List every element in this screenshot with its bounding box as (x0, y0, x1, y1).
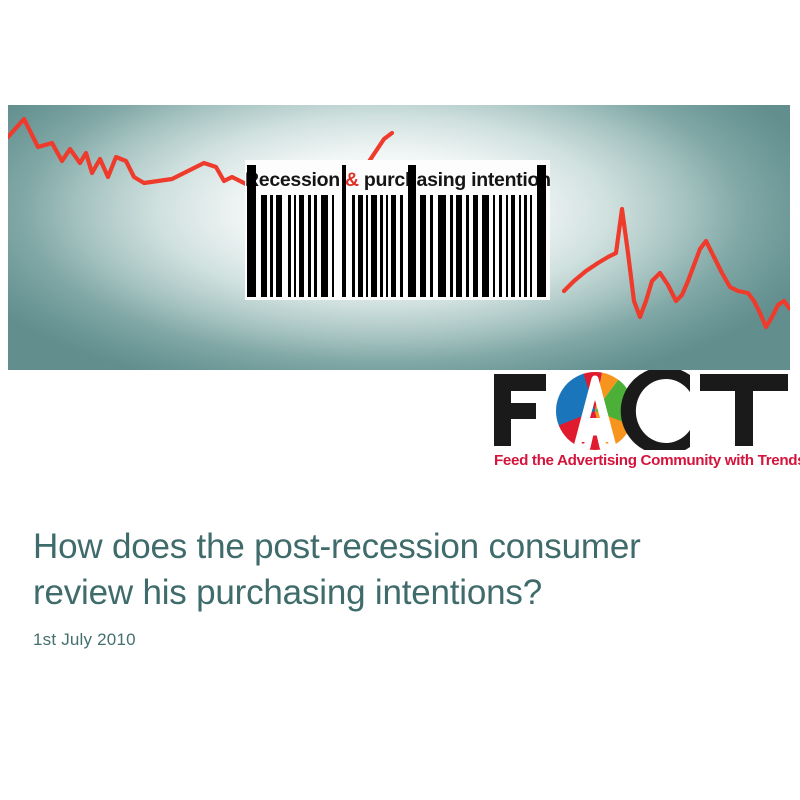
logo-letter-t (700, 374, 788, 446)
barcode-graphic: Recession & purchasing intention (245, 160, 550, 300)
logo-tagline: Feed the Advertising Community with Tren… (494, 452, 792, 469)
logo-letter-f (494, 374, 546, 446)
barcode-title-prefix: Recession (245, 169, 345, 191)
logo-letter-c (621, 370, 690, 450)
barcode-title-text: Recession & purchasing intention (245, 166, 550, 194)
page-title: How does the post-recession consumer rev… (33, 524, 763, 616)
page-title-line-2: review his purchasing intentions? (33, 573, 542, 612)
trend-line-right (564, 209, 790, 327)
barcode-title-suffix: purchasing intention (359, 169, 551, 191)
title-block: How does the post-recession consumer rev… (33, 524, 763, 616)
barcode-title-ampersand: & (345, 169, 359, 191)
document-date: 1st July 2010 (33, 630, 136, 650)
fact-wordmark (492, 370, 792, 450)
page-title-line-1: How does the post-recession consumer (33, 527, 641, 566)
barcode-bars (245, 195, 550, 297)
fact-logo: Feed the Advertising Community with Tren… (492, 370, 792, 478)
